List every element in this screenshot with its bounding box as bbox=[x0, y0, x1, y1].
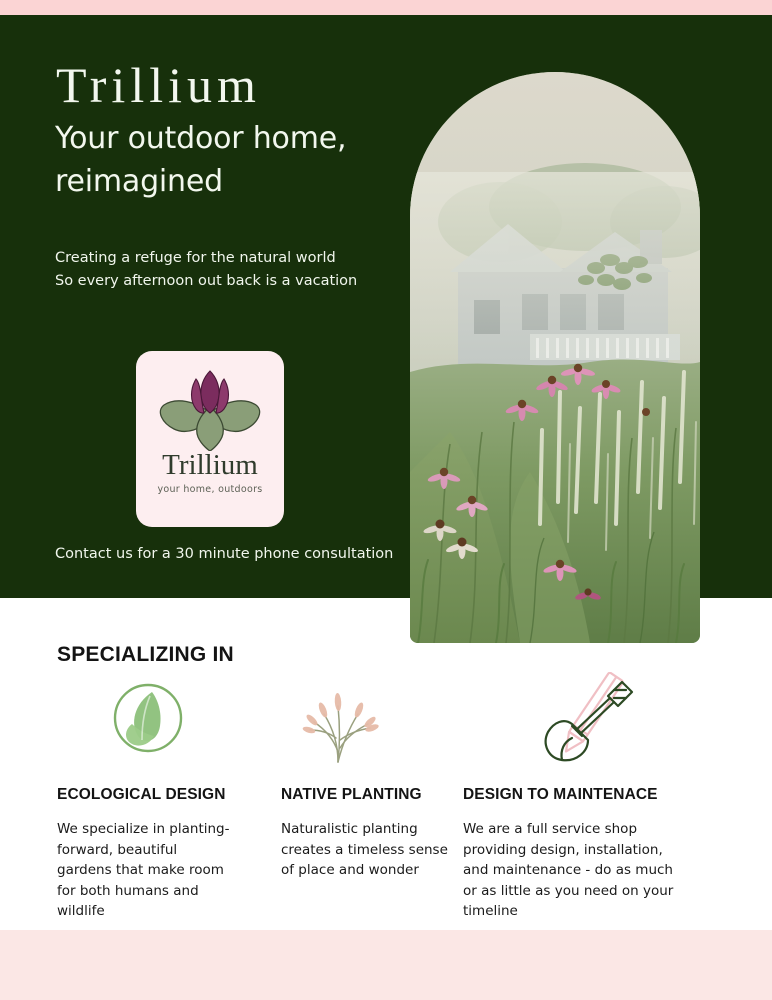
page-title: Trillium bbox=[56, 60, 261, 110]
logo-subtitle: your home, outdoors bbox=[136, 484, 284, 495]
consultation-text: Contact us for a 30 minute phone consult… bbox=[55, 546, 393, 562]
logo-wordmark: Trillium bbox=[136, 451, 284, 480]
logo-card: Trillium your home, outdoors bbox=[136, 351, 284, 527]
garden-photo-image bbox=[410, 72, 700, 643]
top-accent-strip bbox=[0, 0, 772, 15]
trillium-flower-icon bbox=[152, 367, 268, 451]
leaf-circle-icon bbox=[57, 672, 240, 764]
poster-canvas: Trillium Your outdoor home, reimagined C… bbox=[0, 0, 772, 1000]
service-title-2: NATIVE PLANTING bbox=[281, 786, 460, 804]
service-column-native-planting: NATIVE PLANTING Naturalistic planting cr… bbox=[240, 672, 460, 922]
services-row: ECOLOGICAL DESIGN We specialize in plant… bbox=[0, 672, 772, 922]
shovel-pencil-icon bbox=[463, 672, 720, 764]
service-title-3: DESIGN TO MAINTENACE bbox=[463, 786, 720, 804]
service-body-2: Naturalistic planting creates a timeless… bbox=[281, 819, 456, 881]
garden-photo bbox=[410, 72, 700, 643]
service-column-ecological-design: ECOLOGICAL DESIGN We specialize in plant… bbox=[0, 672, 240, 922]
specializing-heading: SPECIALIZING IN bbox=[57, 643, 234, 667]
hero-subtext-line-2: So every afternoon out back is a vacatio… bbox=[55, 270, 435, 293]
service-column-design-to-maintenance: DESIGN TO MAINTENACE We are a full servi… bbox=[460, 672, 720, 922]
service-title-1: ECOLOGICAL DESIGN bbox=[57, 786, 240, 804]
hero-subtext: Creating a refuge for the natural world … bbox=[55, 247, 435, 294]
grass-sprig-icon bbox=[281, 672, 460, 764]
footer-bar: CONTACT US 732-492-3880 anya.raskin@gmai… bbox=[0, 930, 772, 1000]
hero-tagline: Your outdoor home, reimagined bbox=[55, 118, 415, 203]
hero-subtext-line-1: Creating a refuge for the natural world bbox=[55, 247, 435, 270]
service-body-3: We are a full service shop providing des… bbox=[463, 819, 681, 922]
service-body-1: We specialize in planting-forward, beaut… bbox=[57, 819, 235, 922]
